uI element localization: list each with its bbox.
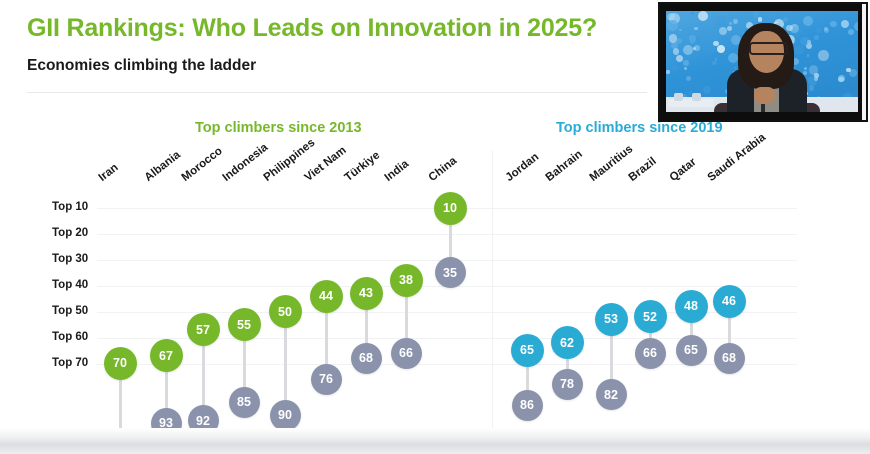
backdrop-dot <box>691 12 694 15</box>
backdrop-dot <box>824 28 830 34</box>
backdrop-dot <box>786 25 793 32</box>
rank-bubble-end[interactable]: 70 <box>104 347 137 380</box>
rank-bubble-start[interactable]: 68 <box>351 343 382 374</box>
backdrop-dot <box>669 34 677 42</box>
backdrop-dot <box>794 39 798 43</box>
backdrop-dot <box>807 54 810 57</box>
backdrop-dot <box>672 65 678 71</box>
rank-bubble-end[interactable]: 55 <box>228 308 261 341</box>
backdrop-dot <box>679 29 682 32</box>
y-axis-tick-label: Top 60 <box>52 331 112 343</box>
backdrop-dot <box>783 17 788 22</box>
backdrop-dot <box>848 29 854 35</box>
rank-bubble-end[interactable]: 10 <box>434 192 467 225</box>
rank-bubble-end[interactable]: 38 <box>390 264 423 297</box>
rank-bubble-start[interactable]: 35 <box>435 257 466 288</box>
rank-bubble-end[interactable]: 52 <box>634 300 667 333</box>
backdrop-dot <box>716 16 727 27</box>
backdrop-dot <box>818 50 829 61</box>
rank-bubble-start[interactable]: 68 <box>714 343 745 374</box>
rank-bubble-start[interactable]: 85 <box>229 387 260 418</box>
category-label: Jordan <box>504 151 542 184</box>
rank-bubble-end[interactable]: 62 <box>551 326 584 359</box>
backdrop-dot <box>694 45 699 50</box>
backdrop-dot <box>728 53 739 64</box>
backdrop-dot <box>686 76 691 81</box>
gridline <box>97 234 797 235</box>
category-label: Morocco <box>180 145 225 184</box>
backdrop-dot <box>694 27 697 30</box>
backdrop-dot <box>808 76 818 86</box>
backdrop-dot <box>684 67 687 70</box>
backdrop-dot <box>854 22 858 31</box>
category-label: Brazil <box>627 155 659 184</box>
backdrop-dot <box>666 54 671 59</box>
stage-cup-right <box>692 93 701 101</box>
backdrop-dot <box>715 58 718 61</box>
backdrop-dot <box>683 45 693 55</box>
backdrop-dot <box>830 21 836 27</box>
rank-bubble-end[interactable]: 67 <box>150 339 183 372</box>
category-label: Albania <box>143 149 183 184</box>
backdrop-dot <box>667 20 678 31</box>
video-frame <box>666 11 858 112</box>
backdrop-dot <box>841 20 849 28</box>
glasses-icon <box>749 42 788 55</box>
backdrop-dot <box>666 70 669 73</box>
backdrop-dot <box>733 19 738 24</box>
backdrop-dot <box>673 48 680 55</box>
backdrop-dot <box>698 11 708 21</box>
rank-bubble-end[interactable]: 53 <box>595 303 628 336</box>
category-label: Iran <box>97 162 121 184</box>
backdrop-dot <box>691 42 693 44</box>
backdrop-dot <box>712 61 717 66</box>
y-axis-tick-label: Top 10 <box>52 201 112 213</box>
rank-bubble-end[interactable]: 46 <box>713 285 746 318</box>
rank-bubble-end[interactable]: 57 <box>187 313 220 346</box>
rank-bubble-end[interactable]: 44 <box>310 280 343 313</box>
category-label: Mauritius <box>588 143 636 184</box>
rank-bubble-end[interactable]: 48 <box>675 290 708 323</box>
category-label: Saudi Arabia <box>706 132 768 184</box>
rank-bubble-start[interactable]: 66 <box>635 338 666 369</box>
y-axis-tick-label: Top 40 <box>52 279 112 291</box>
rank-bubble-start[interactable]: 66 <box>391 338 422 369</box>
backdrop-dot <box>816 27 821 32</box>
rank-bubble-start[interactable]: 65 <box>676 335 707 366</box>
backdrop-dot <box>729 22 732 25</box>
category-label: Qatar <box>668 156 699 184</box>
rank-bubble-end[interactable]: 50 <box>269 295 302 328</box>
rank-bubble-start[interactable]: 76 <box>311 364 342 395</box>
y-axis-tick-label: Top 20 <box>52 227 112 239</box>
video-right-edge <box>862 4 866 120</box>
backdrop-dot <box>803 16 813 26</box>
rank-bubble-start[interactable]: 82 <box>596 379 627 410</box>
backdrop-dot <box>703 86 711 94</box>
backdrop-dot <box>734 67 736 69</box>
y-axis-tick-label: Top 30 <box>52 253 112 265</box>
rank-bubble-start[interactable]: 90 <box>270 400 301 431</box>
backdrop-dot <box>809 65 819 75</box>
rank-bubble-end[interactable]: 43 <box>350 277 383 310</box>
slide-bottom-strip <box>0 428 870 454</box>
presenter-video-thumbnail[interactable] <box>658 2 868 122</box>
backdrop-dot <box>804 67 807 70</box>
rank-bubble-start[interactable]: 86 <box>512 390 543 421</box>
backdrop-dot <box>727 26 732 31</box>
presentation-slide: GII Rankings: Who Leads on Innovation in… <box>0 0 870 454</box>
speaker-hands <box>754 87 775 104</box>
backdrop-dot <box>814 35 818 39</box>
backdrop-dot <box>758 17 762 21</box>
backdrop-dot <box>683 60 688 65</box>
category-label: Bahrain <box>544 148 585 184</box>
rank-bubble-start[interactable]: 78 <box>552 369 583 400</box>
category-label: Indonesia <box>221 141 271 184</box>
y-axis-tick-label: Top 50 <box>52 305 112 317</box>
backdrop-dot <box>794 45 804 55</box>
rank-bubble-end[interactable]: 65 <box>511 334 544 367</box>
backdrop-dot <box>838 77 843 82</box>
backdrop-dot <box>724 52 727 55</box>
category-label: Türkiye <box>343 149 383 184</box>
stage-cup-left <box>674 93 683 101</box>
category-label: China <box>427 155 460 184</box>
backdrop-dot <box>676 55 683 62</box>
category-label: India <box>383 158 412 184</box>
backdrop-dot <box>726 41 728 43</box>
group-divider <box>492 150 493 450</box>
backdrop-dot <box>706 44 715 53</box>
backdrop-dot <box>809 85 815 91</box>
